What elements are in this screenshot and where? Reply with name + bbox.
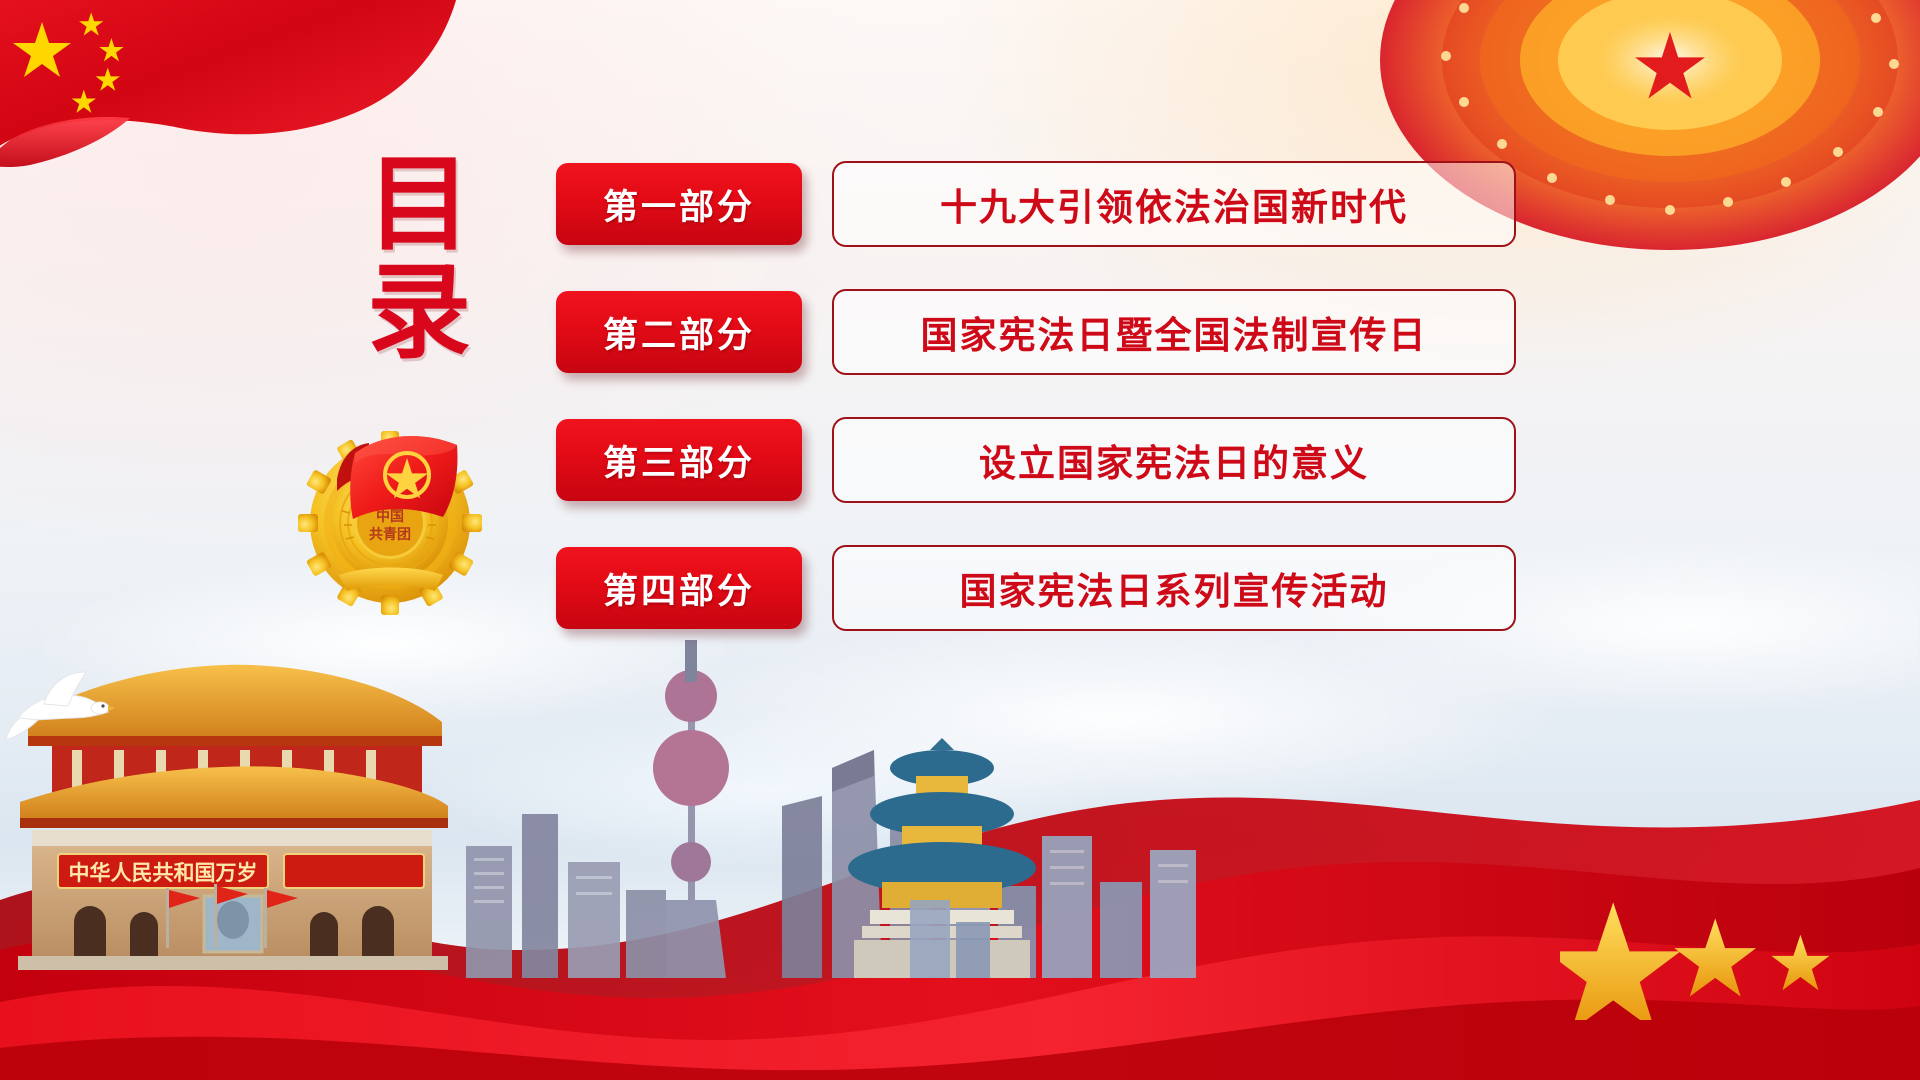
gold-stars-decoration xyxy=(1560,860,1860,1020)
section-title-2[interactable]: 国家宪法日暨全国法制宣传日 xyxy=(832,289,1516,375)
page-title-char-2: 录 xyxy=(330,258,510,366)
toc-list: 第一部分 十九大引领依法治国新时代 第二部分 国家宪法日暨全国法制宣传日 第三部… xyxy=(556,163,1516,675)
emblem-center-text-line1: 中国 xyxy=(376,508,404,525)
tiananmen-banner-right xyxy=(284,854,424,888)
emblem-center-text-line2: 共青团 xyxy=(369,526,411,543)
toc-row-2[interactable]: 第二部分 国家宪法日暨全国法制宣传日 xyxy=(556,291,1516,373)
page-title-char-1: 目 xyxy=(330,150,510,258)
communist-youth-league-emblem: 中国 共青团 xyxy=(283,405,498,620)
slide-root: 中华人民共和国万岁 xyxy=(0,0,1920,1080)
peace-dove-icon xyxy=(4,660,114,750)
toc-row-3[interactable]: 第三部分 设立国家宪法日的意义 xyxy=(556,419,1516,501)
section-title-1[interactable]: 十九大引领依法治国新时代 xyxy=(832,161,1516,247)
section-chip-2[interactable]: 第二部分 xyxy=(556,291,802,373)
section-chip-3[interactable]: 第三部分 xyxy=(556,419,802,501)
tiananmen-banner-left-text: 中华人民共和国万岁 xyxy=(69,861,258,885)
page-title: 目 录 xyxy=(330,150,510,366)
toc-row-1[interactable]: 第一部分 十九大引领依法治国新时代 xyxy=(556,163,1516,245)
section-chip-4[interactable]: 第四部分 xyxy=(556,547,802,629)
section-chip-1[interactable]: 第一部分 xyxy=(556,163,802,245)
section-title-4[interactable]: 国家宪法日系列宣传活动 xyxy=(832,545,1516,631)
section-title-3[interactable]: 设立国家宪法日的意义 xyxy=(832,417,1516,503)
toc-row-4[interactable]: 第四部分 国家宪法日系列宣传活动 xyxy=(556,547,1516,629)
